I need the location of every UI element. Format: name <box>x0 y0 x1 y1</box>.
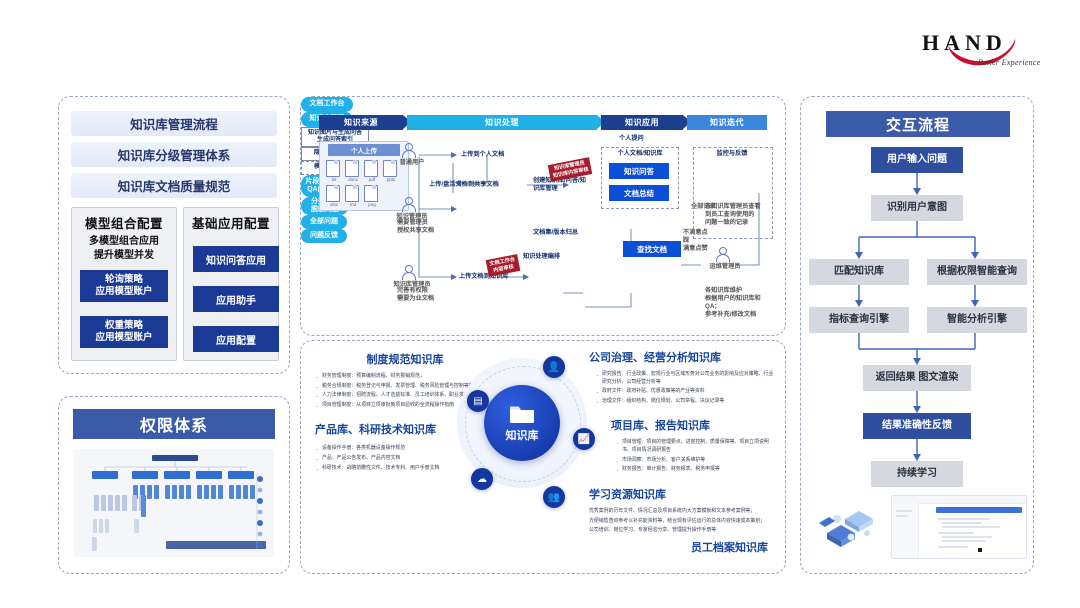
users-icon[interactable]: 👥 <box>543 486 565 508</box>
bar-knowledge-doc-quality[interactable]: 知识库文档质量规范 <box>71 173 277 198</box>
label-kb-maintain: 各知识库维护根据用户的知识库和QA；参考补充/修改文档 <box>705 287 767 319</box>
grid-icon[interactable]: ▤ <box>467 390 489 412</box>
node-find-doc[interactable]: 查找文档 <box>623 241 681 257</box>
label-need-admin-auth: 需要管理员授权共享文档 <box>397 219 443 235</box>
actor-ops-admin-label: 运维管理员 <box>705 263 745 271</box>
kb-item: 方便销售查询参考以补充能资料等，结合现有评估运行的总体内容快速成本策划； <box>589 518 775 526</box>
file-icon-md: md <box>345 185 361 207</box>
file-type-grid: txt docx pdf pptx xlsx md <box>326 160 404 207</box>
card-model-combination-subtitle: 多模型组合应用提升模型并发 <box>72 235 176 262</box>
permission-system-panel: 权限体系 <box>58 396 290 574</box>
personal-upload-title: 个人上传 <box>328 144 400 156</box>
logo-wordmark: HAND <box>922 30 1007 56</box>
file-icon-pdf: pdf <box>364 160 380 182</box>
kb-list-project: 项目管理：项目的管理要点、进度控制、质量保障等、项目立项说明书、项目情况调研报告… <box>589 439 775 473</box>
group-monitor-feedback-title: 监控与反馈 <box>697 150 767 158</box>
actor-kb-admin: 知识库管理员 <box>401 265 415 280</box>
bar-knowledge-mgmt-process[interactable]: 知识库管理流程 <box>71 111 277 136</box>
file-icon-docx: docx <box>345 160 361 182</box>
org-chart-svg <box>74 449 274 557</box>
slide-canvas: HAND Better Experience 知识库管理流程 知识库分级管理体系… <box>0 0 1080 608</box>
label-like: 满意点赞 <box>683 245 713 253</box>
flow-illustration <box>813 495 1025 561</box>
kb-section-title-project: 项目库、报告知识库 <box>589 417 775 433</box>
label-doc-version-summary: 文档集/版本归总 <box>533 229 583 237</box>
flow-smart-analysis-engine[interactable]: 智能分析引擎 <box>927 307 1027 333</box>
knowledge-pipeline-panel: 知识来源 知识处理 知识应用 知识迭代 <box>300 96 786 336</box>
flow-identify-intent[interactable]: 识别用户意图 <box>871 195 963 221</box>
flow-user-input-question[interactable]: 用户输入问题 <box>871 147 963 173</box>
item-app-assistant[interactable]: 应用助手 <box>193 286 279 312</box>
ui-screenshot-mock <box>891 495 1027 559</box>
file-icon-xlsx: xlsx <box>326 185 342 207</box>
group-monitor-feedback <box>693 147 773 239</box>
kb-section-title-governance: 公司治理、经营分析知识库 <box>589 349 775 365</box>
kb-col-right: 公司治理、经营分析知识库 研究报告：行业政策、宏观行业与区域形势对公司业务的影响… <box>589 349 775 537</box>
card-model-combination-title: 模型组合配置 <box>72 213 176 232</box>
flow-match-knowledge-base[interactable]: 匹配知识库 <box>809 259 909 285</box>
flow-return-result-render[interactable]: 返回结果 图文渲染 <box>863 365 971 391</box>
card-model-combination: 模型组合配置 多模型组合应用提升模型并发 轮询策略 应用模型账户 权重策略 应用… <box>71 207 177 361</box>
folder-icon <box>509 403 535 424</box>
actor-ops-admin: 运维管理员 <box>715 247 729 262</box>
kb-list-learning: 优秀案例的历年文件、情况汇总及项目系统内大方案模板和文本参考案例等； 方便销售查… <box>589 508 775 536</box>
kb-item: 项目管理：项目的管理要点、进度控制、质量保障等、项目立项说明书、项目情况调研报告 <box>615 439 775 454</box>
flow-permission-query[interactable]: 根据权限智能查询 <box>927 259 1027 285</box>
mock-accent-bar <box>936 507 1022 513</box>
permission-org-chart-image <box>74 449 274 557</box>
kb-item: 研究报告：行业政策、宏观行业与区域形势对公司业务的影响及应对策略、行业研究分析、… <box>595 371 775 386</box>
flow-metric-query-engine[interactable]: 指标查询引擎 <box>809 307 909 333</box>
hand-logo: HAND Better Experience <box>918 28 1058 76</box>
logo-tagline: Better Experience <box>978 58 1041 67</box>
item-weight-strategy[interactable]: 权重策略 应用模型账户 <box>80 316 168 348</box>
label-complete-permission: 完善有权限需要为业文档 <box>397 287 445 303</box>
kb-item: 优秀案例的历年文件、情况汇总及项目系统内大方案模板和文本参考案例等； <box>589 508 775 516</box>
label-upload-shared-doc: 上传/盘活文档到共享文档 <box>429 181 499 189</box>
knowledge-base-circle-graphic: 知识库 👤 ▤ 📈 ☁ 👥 <box>455 358 589 508</box>
kb-section-title-learning: 学习资源知识库 <box>589 486 775 502</box>
item-weight-strategy-l1: 权重策略 <box>105 320 143 332</box>
bar-knowledge-grading-system[interactable]: 知识库分级管理体系 <box>71 142 277 167</box>
person-icon <box>401 265 415 280</box>
actor-normal-user-label: 普通用户 <box>397 159 427 167</box>
card-basic-application: 基础应用配置 知识问答应用 应用助手 应用配置 <box>183 207 279 361</box>
person-icon <box>715 247 729 262</box>
interaction-flow-panel: 交互流程 用户输入问题 <box>800 96 1034 574</box>
item-polling-strategy-l1: 轮询策略 <box>105 274 143 286</box>
item-weight-strategy-l2: 应用模型账户 <box>95 332 152 344</box>
node-knowledge-qa[interactable]: 知识问答 <box>609 163 669 179</box>
kb-item: 财务报告：审计报告、财务报表、税务申报等 <box>615 466 775 474</box>
flow-result-accuracy-feedback[interactable]: 结果准确性反馈 <box>863 413 971 439</box>
kb-item: 市场洞察：市场分析、客户关系维护等 <box>615 457 775 465</box>
flow-continuous-learning[interactable]: 持续学习 <box>871 461 963 487</box>
kb-item: 治理文件：组织结构、岗位规划、公司章程、决议记录等 <box>595 398 775 406</box>
permission-system-title: 权限体系 <box>73 409 275 439</box>
file-icon-png: png <box>364 185 380 207</box>
item-polling-strategy[interactable]: 轮询策略 应用模型账户 <box>80 270 168 302</box>
circle-core: 知识库 <box>484 385 560 461</box>
actor-knowledge-manager: 知识管理员 <box>401 197 415 212</box>
node-doc-summary[interactable]: 文档总结 <box>609 185 669 201</box>
card-basic-application-title: 基础应用配置 <box>184 213 278 232</box>
label-kb-process-orchestration: 知识处理编排 <box>523 253 575 261</box>
item-app-configuration[interactable]: 应用配置 <box>193 326 279 352</box>
item-polling-strategy-l2: 应用模型账户 <box>95 286 152 298</box>
kb-item: 公司培训、岗位学习、专家经验分享、管理提升操作手册等 <box>589 527 775 535</box>
knowledge-governance-panel: 知识库管理流程 知识库分级管理体系 知识库文档质量规范 模型组合配置 多模型组合… <box>58 96 290 374</box>
actor-normal-user: 普通用户 <box>401 143 415 158</box>
item-knowledge-qa-app[interactable]: 知识问答应用 <box>193 246 279 272</box>
group-personal-doc-kb-title: 个人文档/知识库 <box>605 150 675 158</box>
person-icon <box>401 197 415 212</box>
cloud-icon[interactable]: ☁ <box>471 468 493 490</box>
personal-upload-box: 个人上传 txt docx pdf pptx xlsx <box>319 141 409 211</box>
user-badge-icon[interactable]: 👤 <box>543 356 565 378</box>
label-personal-question: 个人提问 <box>619 135 644 143</box>
kb-list-governance: 研究报告：行业政策、宏观行业与区域形势对公司业务的影响及应对策略、行业研究分析、… <box>589 371 775 405</box>
person-icon <box>401 143 415 158</box>
label-upload-personal-doc: 上传到个人文档 <box>461 151 504 159</box>
isometric-devices-icon <box>815 499 885 561</box>
chart-monitor-icon[interactable]: 📈 <box>573 428 595 450</box>
file-icon-txt: txt <box>326 160 342 182</box>
kb-item: 政府文件：政府补贴、优惠政策等的产业等资料 <box>595 388 775 396</box>
circle-core-label: 知识库 <box>506 427 539 443</box>
